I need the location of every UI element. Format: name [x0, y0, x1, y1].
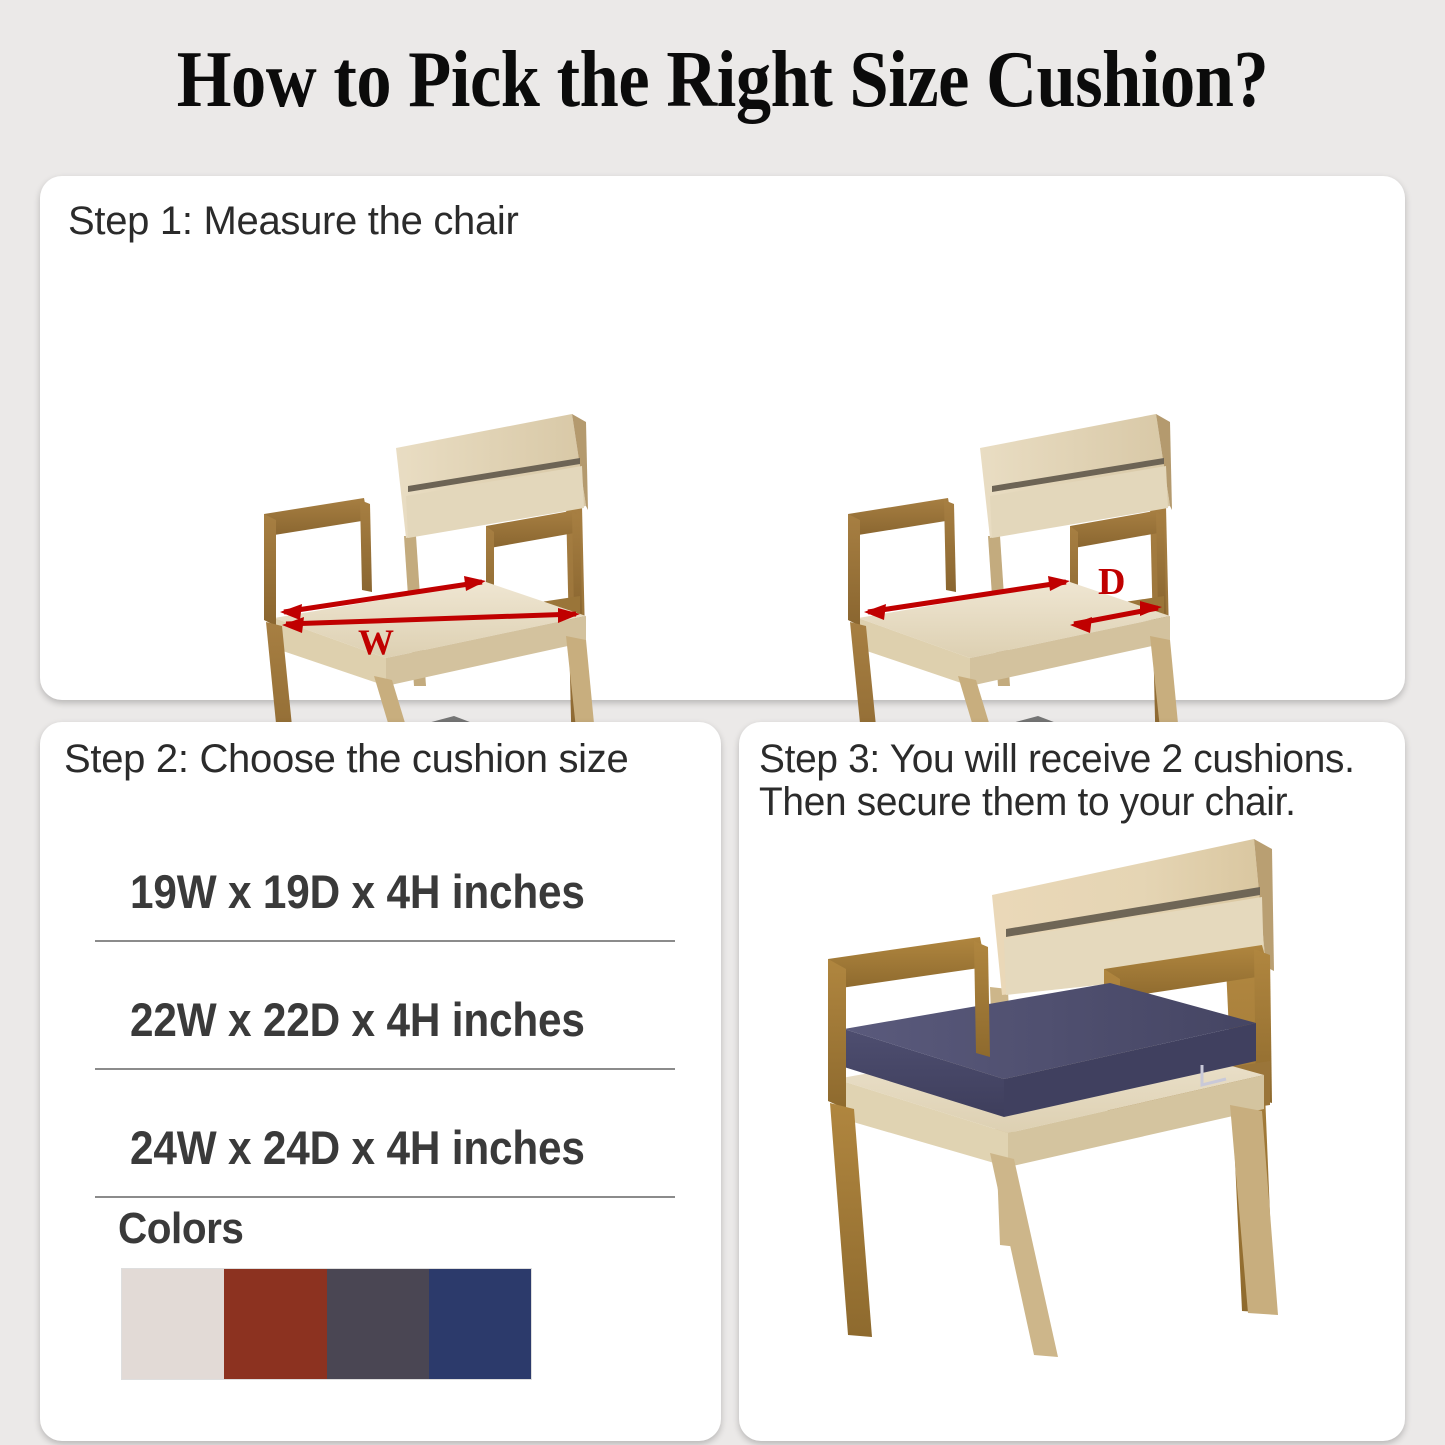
step-3-card: Step 3: You will receive 2 cushions. The…: [739, 722, 1405, 1441]
width-label: W: [358, 622, 394, 662]
color-swatch-slate-gray[interactable]: [327, 1269, 429, 1379]
step-3-heading-line1: Step 3: You will receive 2 cushions.: [759, 737, 1355, 781]
depth-label: D: [1098, 561, 1125, 603]
color-swatch-rust-red[interactable]: [224, 1269, 326, 1379]
size-option-row[interactable]: 19W x 19D x 4H inches: [95, 856, 675, 984]
chair-illustration-with-cushion: [794, 817, 1354, 1407]
step-2-card: Step 2: Choose the cushion size 19W x 19…: [40, 722, 721, 1441]
colors-label: Colors: [118, 1204, 499, 1254]
size-option-label: 19W x 19D x 4H inches: [130, 864, 585, 919]
page-title: How to Pick the Right Size Cushion?: [87, 0, 1359, 160]
colors-block: Colors: [118, 1204, 532, 1380]
size-option-row[interactable]: 22W x 22D x 4H inches: [95, 984, 675, 1112]
color-swatch-navy-blue[interactable]: [429, 1269, 531, 1379]
size-divider: [95, 940, 675, 942]
size-option-label: 24W x 24D x 4H inches: [130, 1120, 585, 1175]
size-divider: [95, 1068, 675, 1070]
step-1-card: Step 1: Measure the chair: [40, 176, 1405, 700]
step-2-heading: Step 2: Choose the cushion size: [64, 738, 628, 781]
color-swatch-strip: [121, 1268, 532, 1380]
step-1-heading: Step 1: Measure the chair: [68, 200, 519, 243]
size-option-label: 22W x 22D x 4H inches: [130, 992, 585, 1047]
step-3-heading: Step 3: You will receive 2 cushions. The…: [759, 738, 1355, 824]
color-swatch-cream[interactable]: [122, 1269, 224, 1379]
cushion-size-list: 19W x 19D x 4H inches 22W x 22D x 4H inc…: [95, 856, 675, 1240]
size-divider: [95, 1196, 675, 1198]
